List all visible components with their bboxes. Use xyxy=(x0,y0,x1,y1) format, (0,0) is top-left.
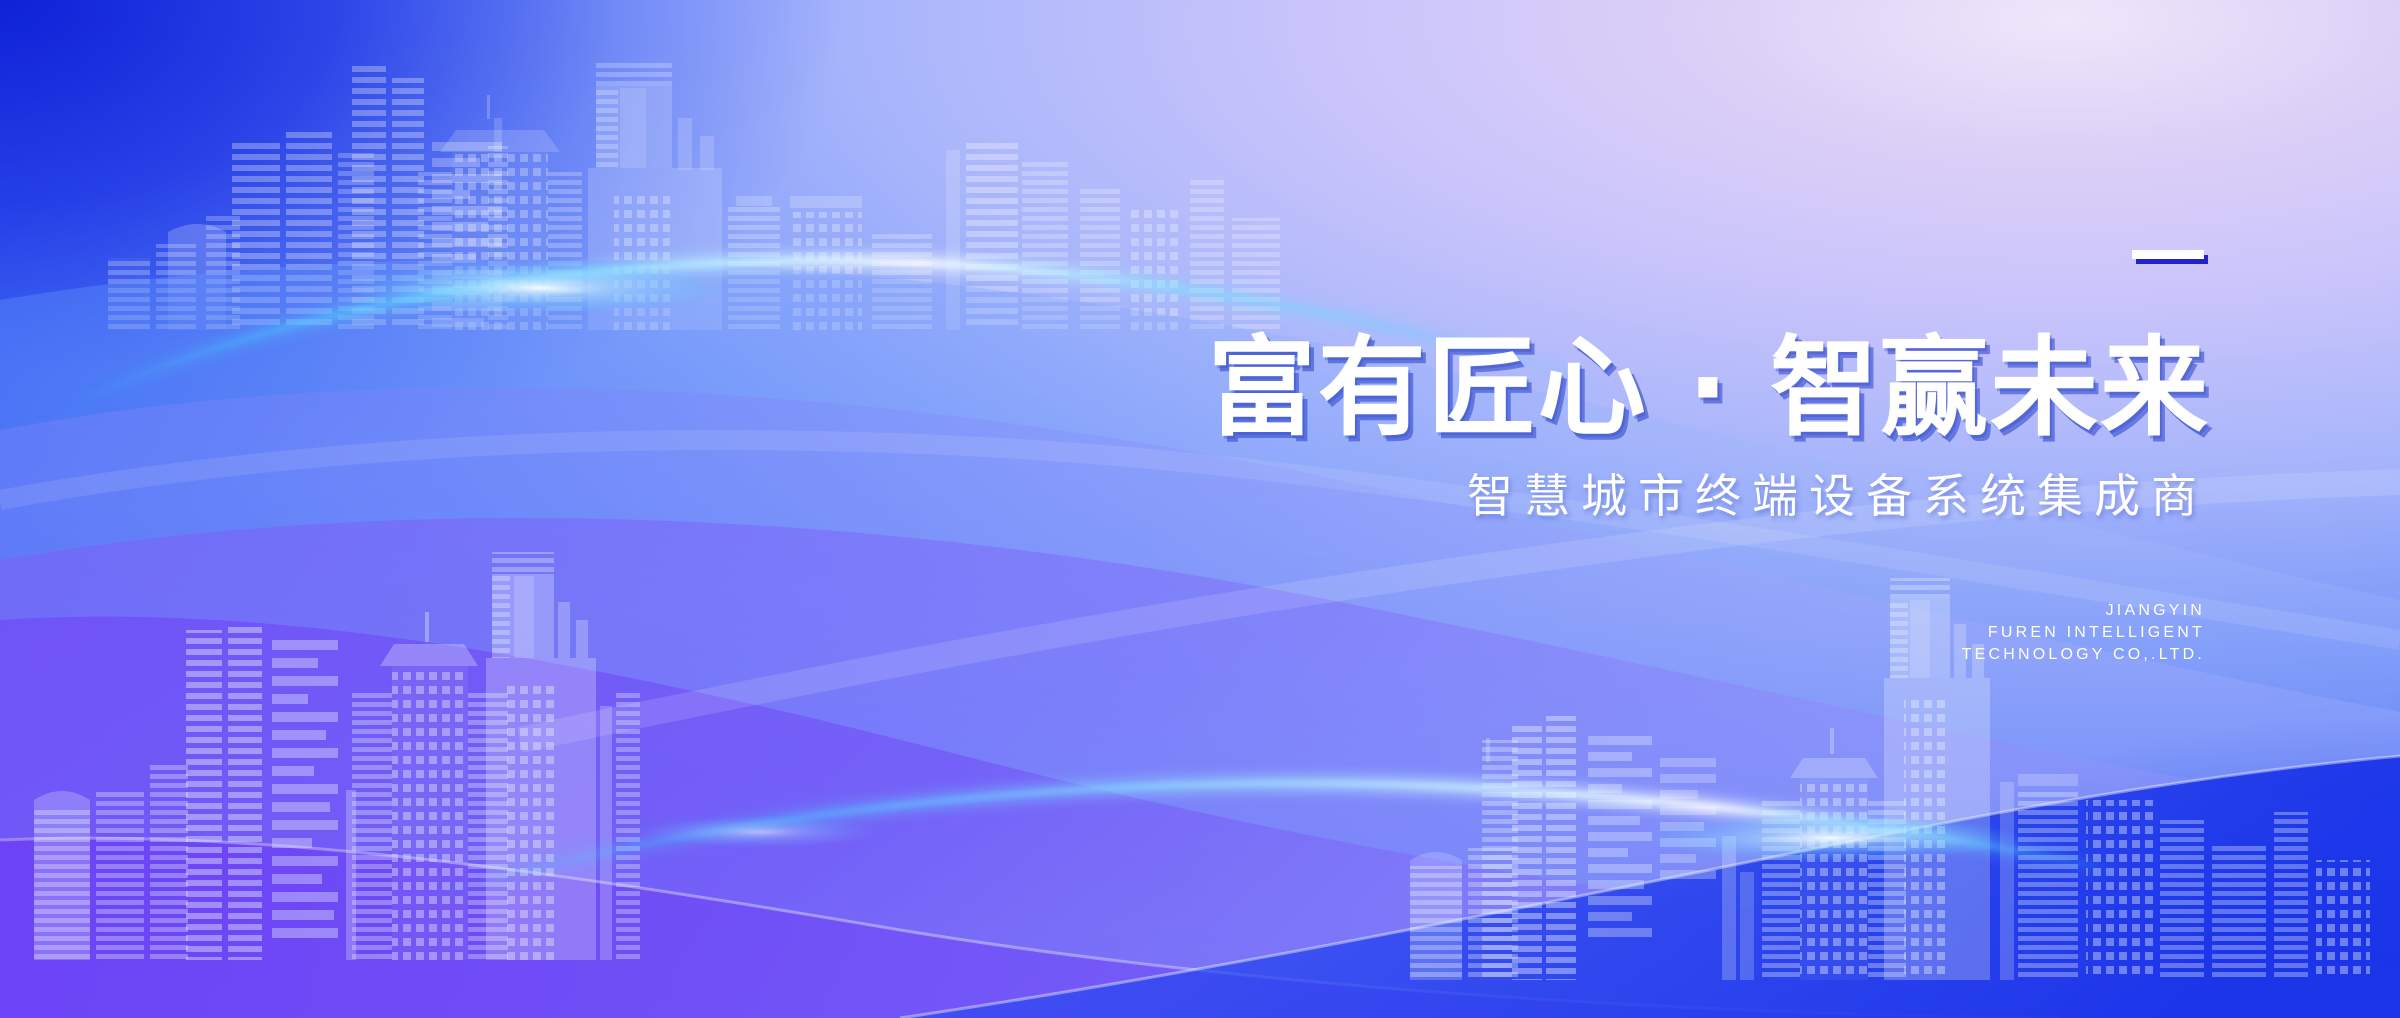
company-name-line-3: TECHNOLOGY CO,.LTD. xyxy=(1040,644,2205,666)
glow-hotspot-upper xyxy=(350,262,730,314)
dash-mark-icon xyxy=(2132,250,2204,259)
dash-mark-row xyxy=(1040,250,2210,259)
company-name-block: JIANGYIN FUREN INTELLIGENT TECHNOLOGY CO… xyxy=(1040,600,2210,666)
headline-part1: 富有匠心 xyxy=(1208,326,1648,451)
company-name-line-2: FUREN INTELLIGENT xyxy=(1040,622,2205,644)
headline-separator: · xyxy=(1687,326,1730,451)
headline-part2: 智赢未来 xyxy=(1770,326,2210,451)
banner-content: 富有匠心 · 智赢未来 智慧城市终端设备系统集成商 JIANGYIN FUREN… xyxy=(1040,250,2210,666)
glow-hotspot-lower-secondary xyxy=(640,816,880,848)
hero-banner: 富有匠心 · 智赢未来 智慧城市终端设备系统集成商 JIANGYIN FUREN… xyxy=(0,0,2400,1018)
page-title: 富有匠心 · 智赢未来 xyxy=(1040,335,2210,443)
glow-hotspot-lower xyxy=(1640,814,2020,862)
company-name-line-1: JIANGYIN xyxy=(1040,600,2205,622)
page-subtitle: 智慧城市终端设备系统集成商 xyxy=(1040,471,2210,522)
